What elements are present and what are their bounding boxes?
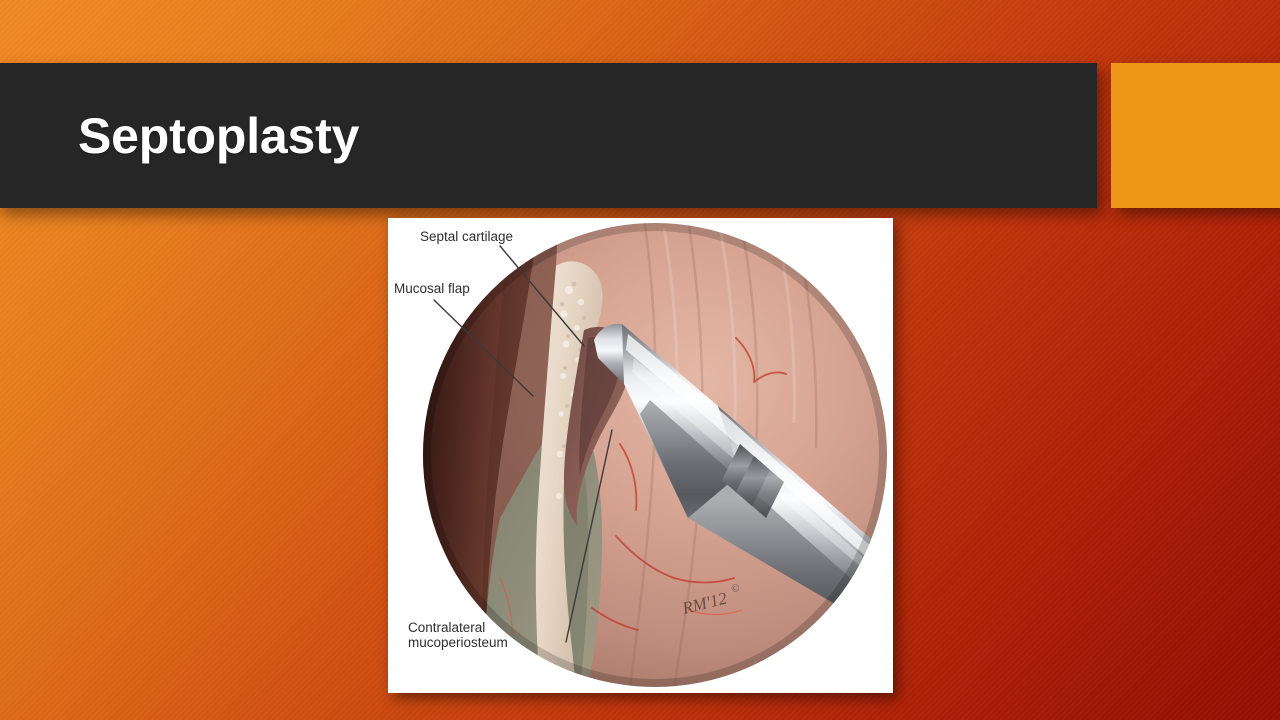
slide: Septoplasty [0,0,1280,720]
callout-contralateral-mucoperiosteum: Contralateral mucoperiosteum [408,621,508,650]
title-band: Septoplasty [0,63,1097,208]
accent-rectangle [1111,63,1280,208]
figure-frame: RM'12 © Septal cartilage [388,218,893,693]
callout-septal-cartilage: Septal cartilage [420,230,513,245]
page-title: Septoplasty [78,111,359,161]
septoplasty-illustration: RM'12 © Septal cartilage [388,218,893,693]
callout-mucosal-flap: Mucosal flap [394,282,470,297]
